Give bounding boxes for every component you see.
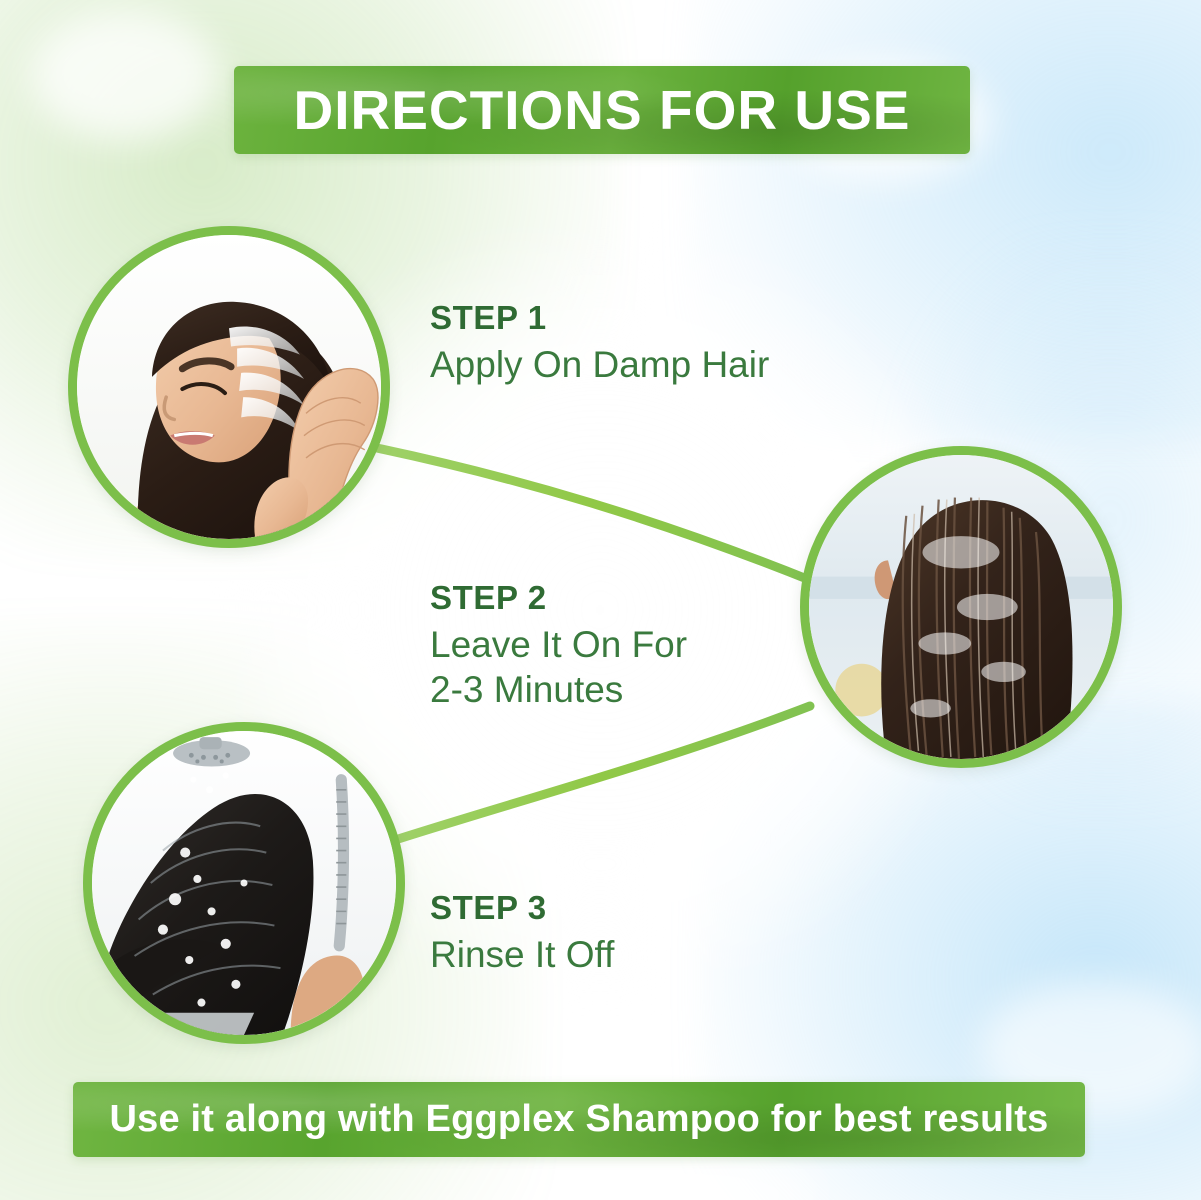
step-2-description-line-2: 2-3 Minutes [430, 667, 687, 712]
directions-for-use-poster: DIRECTIONS FOR USE [0, 0, 1201, 1200]
connector-step1-to-step2 [372, 447, 812, 581]
step-2-illustration [809, 455, 1113, 759]
step-3-illustration [92, 731, 396, 1035]
step-1-heading: STEP 1 [430, 300, 769, 336]
footer-note-banner: Use it along with Eggplex Shampoo for be… [73, 1082, 1085, 1157]
step-3-photo-inner [92, 731, 396, 1035]
step-3-heading: STEP 3 [430, 890, 614, 926]
step-3-text-block: STEP 3 Rinse It Off [430, 890, 614, 977]
white-wisp-1 [30, 10, 220, 140]
step-2-photo [800, 446, 1122, 768]
white-wisp-4 [560, 1150, 820, 1200]
step-2-text-block: STEP 2 Leave It On For 2-3 Minutes [430, 580, 687, 712]
page-title: DIRECTIONS FOR USE [294, 78, 911, 142]
step-3-description-line-1: Rinse It Off [430, 932, 614, 977]
step-1-illustration [77, 235, 381, 539]
step-1-photo [68, 226, 390, 548]
step-1-text-block: STEP 1 Apply On Damp Hair [430, 300, 769, 387]
step-1-description-line-1: Apply On Damp Hair [430, 342, 769, 387]
step-2-description-line-1: Leave It On For [430, 622, 687, 667]
step-3-photo [83, 722, 405, 1044]
page-title-banner: DIRECTIONS FOR USE [234, 66, 970, 154]
step-2-photo-inner [809, 455, 1113, 759]
connector-step2-to-step3 [392, 706, 810, 841]
footer-note: Use it along with Eggplex Shampoo for be… [109, 1098, 1048, 1141]
step-1-photo-inner [77, 235, 381, 539]
step-2-heading: STEP 2 [430, 580, 687, 616]
